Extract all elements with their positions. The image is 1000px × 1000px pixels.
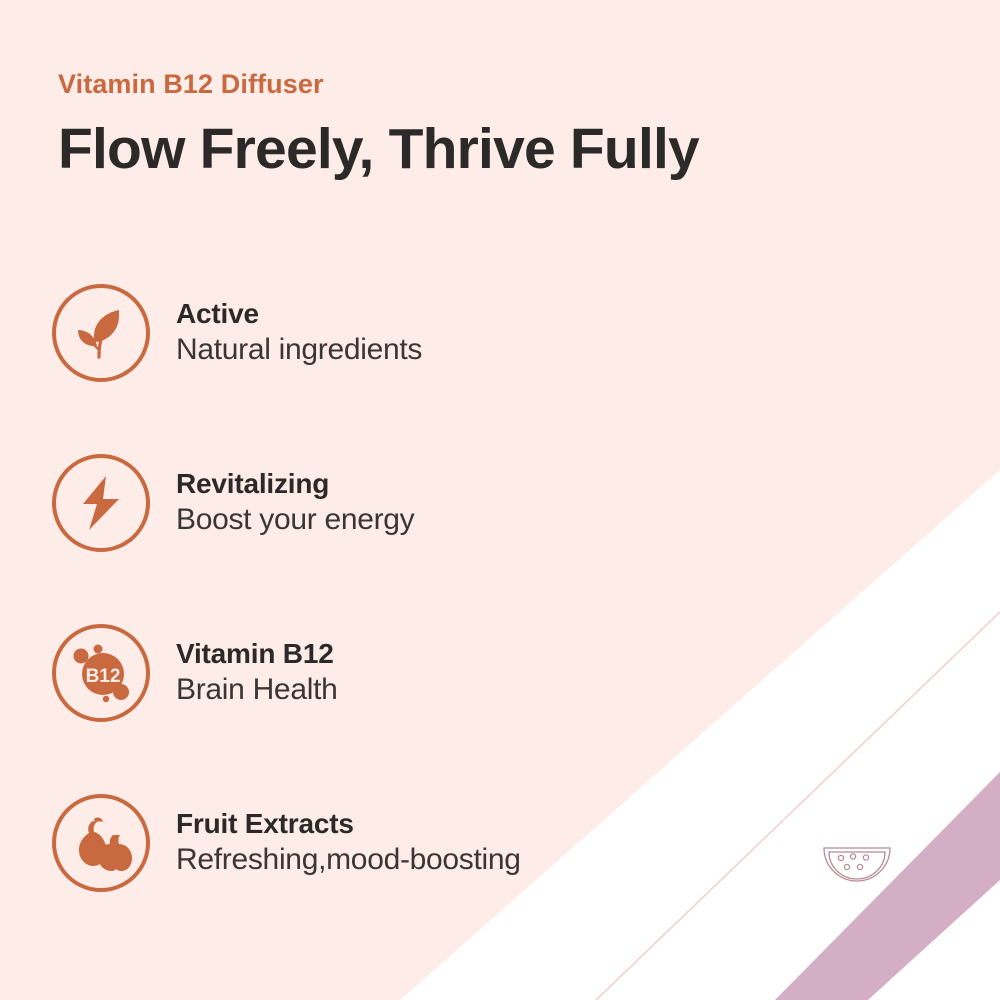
- poster-header: Vitamin B12 Diffuser Flow Freely, Thrive…: [58, 70, 878, 182]
- feature-subtitle: Natural ingredients: [176, 331, 422, 369]
- feature-item-revitalizing: Revitalizing Boost your energy: [52, 448, 752, 558]
- pear-apple-fruit-icon: [70, 813, 132, 873]
- feature-list: Active Natural ingredients Revitalizing …: [52, 278, 752, 898]
- lightning-bolt-icon: [75, 474, 127, 532]
- feature-item-fruit-extracts: Fruit Extracts Refreshing,mood-boosting: [52, 788, 752, 898]
- feature-icon-badge: B12: [52, 624, 150, 722]
- product-eyebrow: Vitamin B12 Diffuser: [58, 70, 878, 100]
- feature-icon-badge: [52, 284, 150, 382]
- feature-subtitle: Boost your energy: [176, 501, 414, 539]
- b12-molecule-icon: B12: [68, 642, 134, 704]
- feature-item-active: Active Natural ingredients: [52, 278, 752, 388]
- watermelon-slice-icon: [822, 840, 894, 884]
- mauve-diagonal-stripe: [775, 772, 1000, 1000]
- feature-title: Fruit Extracts: [176, 807, 521, 841]
- feature-text: Vitamin B12 Brain Health: [176, 637, 338, 709]
- feature-title: Vitamin B12: [176, 637, 338, 671]
- feature-title: Active: [176, 297, 422, 331]
- page-title: Flow Freely, Thrive Fully: [58, 118, 878, 182]
- feature-text: Active Natural ingredients: [176, 297, 422, 369]
- feature-title: Revitalizing: [176, 467, 414, 501]
- poster-canvas: Vitamin B12 Diffuser Flow Freely, Thrive…: [0, 0, 1000, 1000]
- feature-icon-badge: [52, 454, 150, 552]
- feature-item-vitamin-b12: B12 Vitamin B12 Brain Health: [52, 618, 752, 728]
- feature-subtitle: Brain Health: [176, 671, 338, 709]
- feature-subtitle: Refreshing,mood-boosting: [176, 841, 521, 879]
- feature-text: Fruit Extracts Refreshing,mood-boosting: [176, 807, 521, 879]
- feature-icon-badge: [52, 794, 150, 892]
- b12-icon-label: B12: [86, 666, 121, 687]
- feature-text: Revitalizing Boost your energy: [176, 467, 414, 539]
- leaf-sprout-icon: [72, 304, 130, 362]
